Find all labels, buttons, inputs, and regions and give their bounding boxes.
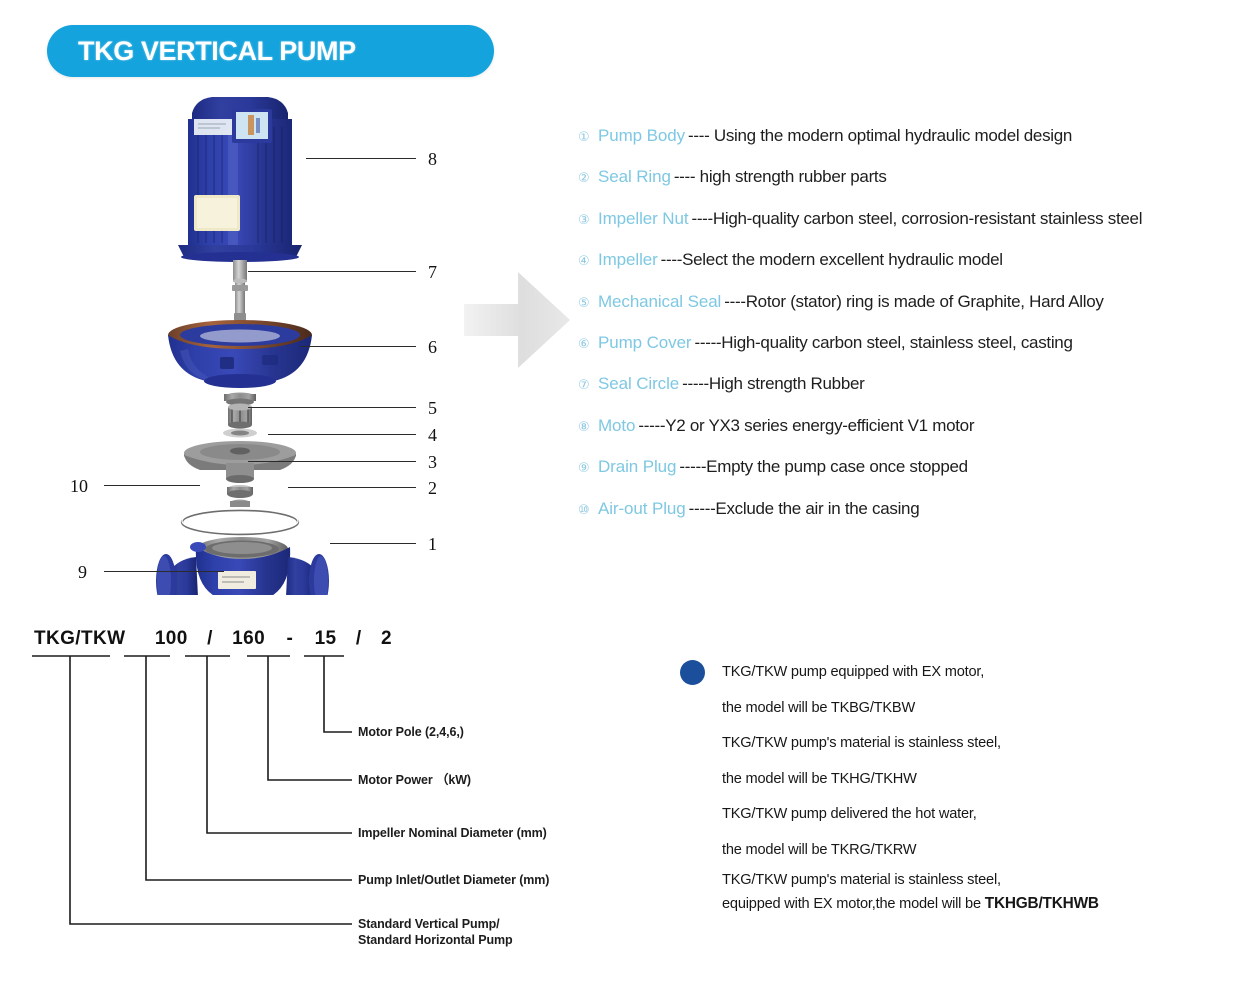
nomenclature-bracket-lines bbox=[22, 628, 622, 958]
note-model-bold: TKHGB/TKHWB bbox=[985, 895, 1099, 912]
legend-description: ----Rotor (stator) ring is made of Graph… bbox=[724, 292, 1103, 312]
legend-item: ⑨ Drain Plug -----Empty the pump case on… bbox=[578, 457, 1198, 498]
legend-part-name: Impeller bbox=[598, 250, 658, 270]
callout-number-1: 1 bbox=[428, 535, 437, 553]
pump-body-part bbox=[156, 537, 329, 595]
legend-item: ④ Impeller ----Select the modern excelle… bbox=[578, 250, 1198, 291]
legend-item: ⑤ Mechanical Seal ----Rotor (stator) rin… bbox=[578, 292, 1198, 333]
note-line: the model will be TKBG/TKBW bbox=[722, 691, 1150, 727]
note-line: the model will be TKHG/TKHW bbox=[722, 762, 1150, 798]
legend-description: -----High-quality carbon steel, stainles… bbox=[694, 333, 1072, 353]
callout-number-10: 10 bbox=[70, 477, 88, 495]
legend-part-name: Pump Cover bbox=[598, 333, 691, 353]
leader-line-2 bbox=[288, 487, 416, 488]
legend-number-icon: ① bbox=[578, 131, 598, 144]
note-line: TKG/TKW pump's material is stainless ste… bbox=[722, 868, 1150, 892]
leader-line-6 bbox=[300, 346, 416, 347]
note-line: the model will be TKRG/TKRW bbox=[722, 833, 1150, 869]
model-variant-notes: TKG/TKW pump equipped with EX motor, the… bbox=[680, 655, 1150, 916]
right-arrow-icon bbox=[462, 268, 572, 372]
legend-description: ---- Using the modern optimal hydraulic … bbox=[688, 126, 1072, 146]
nom-label-impeller-dia: Impeller Nominal Diameter (mm) bbox=[358, 825, 547, 842]
impeller-part bbox=[184, 441, 296, 483]
legend-description: ----Select the modern excellent hydrauli… bbox=[661, 250, 1003, 270]
leader-line-3 bbox=[248, 461, 416, 462]
leader-line-9 bbox=[104, 571, 224, 572]
callout-number-2: 2 bbox=[428, 479, 437, 497]
callout-number-3: 3 bbox=[428, 453, 437, 471]
legend-part-name: Moto bbox=[598, 416, 635, 436]
nom-label-pump-type-line1: Standard Vertical Pump/ bbox=[358, 916, 500, 933]
legend-description: -----Empty the pump case once stopped bbox=[679, 457, 967, 477]
page-title: TKG VERTICAL PUMP bbox=[78, 36, 356, 67]
legend-item: ② Seal Ring ---- high strength rubber pa… bbox=[578, 167, 1198, 208]
leader-line-7 bbox=[248, 271, 416, 272]
bullet-circle-icon bbox=[680, 660, 705, 685]
legend-item: ③ Impeller Nut ----High-quality carbon s… bbox=[578, 209, 1198, 250]
legend-part-name: Mechanical Seal bbox=[598, 292, 721, 312]
legend-description: -----Exclude the air in the casing bbox=[689, 499, 920, 519]
legend-description: -----High strength Rubber bbox=[682, 374, 864, 394]
legend-description: ---- high strength rubber parts bbox=[674, 167, 887, 187]
leader-line-1 bbox=[330, 543, 416, 544]
nom-label-pump-type-line2: Standard Horizontal Pump bbox=[358, 932, 513, 949]
legend-item: ⑥ Pump Cover -----High-quality carbon st… bbox=[578, 333, 1198, 374]
legend-number-icon: ⑩ bbox=[578, 504, 598, 517]
legend-number-icon: ⑧ bbox=[578, 421, 598, 434]
leader-line-10 bbox=[104, 485, 200, 486]
legend-part-name: Impeller Nut bbox=[598, 209, 688, 229]
legend-part-name: Air-out Plug bbox=[598, 499, 686, 519]
legend-item: ⑧ Moto -----Y2 or YX3 series energy-effi… bbox=[578, 416, 1198, 457]
callout-number-8: 8 bbox=[428, 150, 437, 168]
legend-item: ① Pump Body ---- Using the modern optima… bbox=[578, 126, 1198, 167]
legend-item: ⑩ Air-out Plug -----Exclude the air in t… bbox=[578, 499, 1198, 540]
callout-number-4: 4 bbox=[428, 426, 437, 444]
mechanical-seal-part bbox=[223, 393, 257, 438]
nom-label-inlet-outlet-dia: Pump Inlet/Outlet Diameter (mm) bbox=[358, 872, 549, 889]
legend-number-icon: ③ bbox=[578, 214, 598, 227]
note-line: TKG/TKW pump delivered the hot water, bbox=[722, 797, 1150, 833]
parts-legend: ① Pump Body ---- Using the modern optima… bbox=[578, 126, 1198, 540]
note-line: TKG/TKW pump's material is stainless ste… bbox=[722, 726, 1150, 762]
callout-number-7: 7 bbox=[428, 263, 437, 281]
note-prefix: equipped with EX motor,the model will be bbox=[722, 896, 985, 912]
impeller-nut-part bbox=[227, 485, 253, 507]
shaft-part bbox=[232, 279, 248, 324]
leader-line-8 bbox=[306, 158, 416, 159]
legend-number-icon: ② bbox=[578, 172, 598, 185]
legend-number-icon: ④ bbox=[578, 255, 598, 268]
note-line: TKG/TKW pump equipped with EX motor, bbox=[722, 655, 1150, 691]
leader-line-5 bbox=[248, 407, 416, 408]
seal-ring-part bbox=[182, 509, 298, 534]
legend-number-icon: ⑥ bbox=[578, 338, 598, 351]
exploded-pump-diagram bbox=[120, 85, 400, 595]
legend-number-icon: ⑤ bbox=[578, 297, 598, 310]
callout-number-9: 9 bbox=[78, 563, 87, 581]
leader-line-4 bbox=[268, 434, 416, 435]
legend-description: ----High-quality carbon steel, corrosion… bbox=[691, 209, 1142, 229]
legend-description: -----Y2 or YX3 series energy-efficient V… bbox=[638, 416, 974, 436]
legend-part-name: Seal Ring bbox=[598, 167, 671, 187]
note-line-with-model: equipped with EX motor,the model will be… bbox=[722, 892, 1150, 916]
nom-label-motor-power: Motor Power （kW) bbox=[358, 772, 471, 789]
legend-part-name: Seal Circle bbox=[598, 374, 679, 394]
motor-part bbox=[178, 97, 302, 282]
legend-number-icon: ⑦ bbox=[578, 379, 598, 392]
legend-part-name: Drain Plug bbox=[598, 457, 676, 477]
model-nomenclature: TKG/TKW 100 / 160 - 15 / 2 bbox=[22, 628, 622, 958]
nom-label-motor-pole: Motor Pole (2,4,6,) bbox=[358, 724, 464, 741]
legend-number-icon: ⑨ bbox=[578, 462, 598, 475]
callout-number-6: 6 bbox=[428, 338, 437, 356]
callout-number-5: 5 bbox=[428, 399, 437, 417]
pump-cover-part bbox=[168, 320, 312, 388]
legend-item: ⑦ Seal Circle -----High strength Rubber bbox=[578, 374, 1198, 415]
legend-part-name: Pump Body bbox=[598, 126, 685, 146]
